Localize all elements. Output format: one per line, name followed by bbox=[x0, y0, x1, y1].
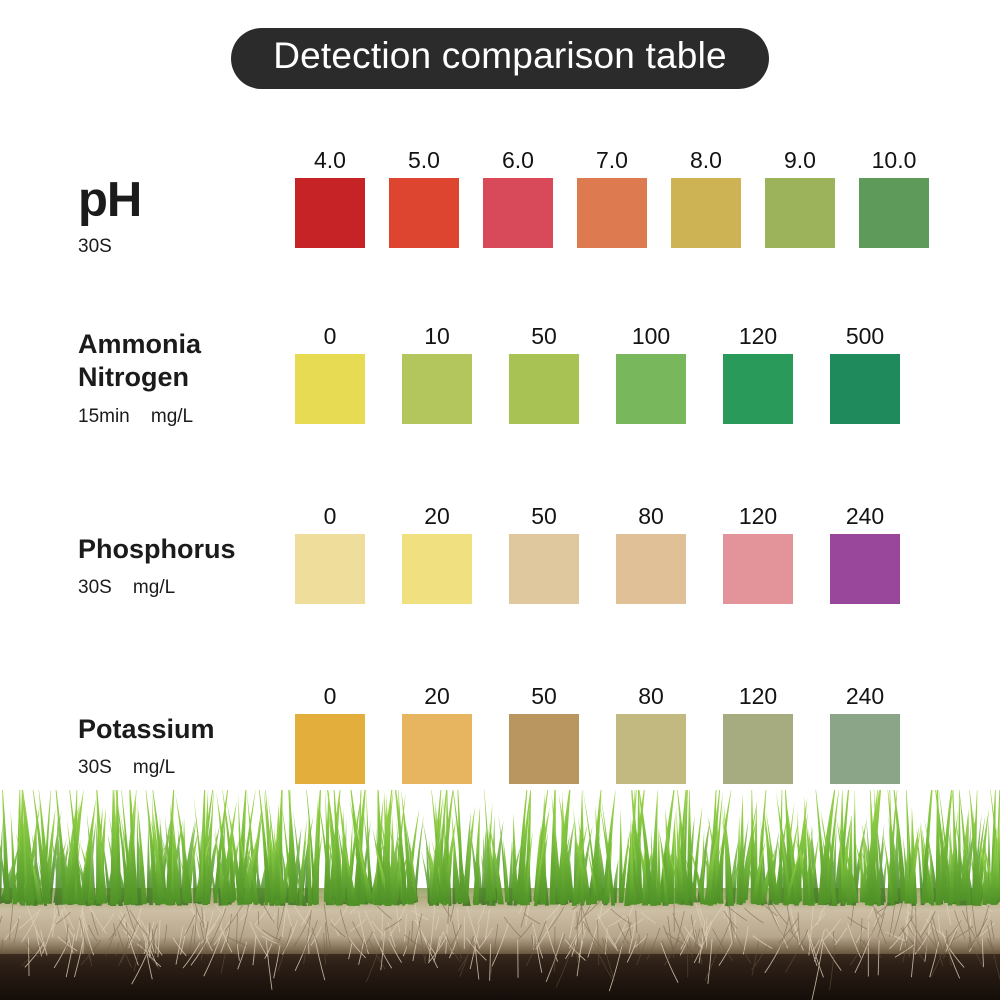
swatch-value: 8.0 bbox=[690, 146, 722, 174]
swatch-cell[interactable]: 80 bbox=[616, 502, 686, 604]
swatch-chip bbox=[765, 178, 835, 248]
swatch-cell[interactable]: 0 bbox=[295, 322, 365, 424]
swatch-cell[interactable]: 500 bbox=[830, 322, 900, 424]
row-name-ammonia-line1: Ammonia bbox=[78, 329, 201, 359]
page-title: Detection comparison table bbox=[231, 28, 769, 89]
row-name-potassium-line1: Potassium bbox=[78, 714, 215, 744]
row-label-ph: pH 30S bbox=[78, 172, 293, 258]
detection-comparison-table-page: Detection comparison table pH 30S 4.0 5.… bbox=[0, 0, 1000, 1000]
row-sub-ammonia-nitrogen: 15min mg/L bbox=[78, 406, 293, 428]
swatch-cell[interactable]: 120 bbox=[723, 682, 793, 784]
swatch-strip-ammonia-nitrogen: 0 10 50 100 120 500 bbox=[295, 322, 900, 424]
swatch-chip bbox=[616, 714, 686, 784]
swatch-value: 4.0 bbox=[314, 146, 346, 174]
swatch-chip bbox=[830, 714, 900, 784]
swatch-chip bbox=[389, 178, 459, 248]
swatch-chip bbox=[830, 534, 900, 604]
swatch-chip bbox=[723, 354, 793, 424]
swatch-cell[interactable]: 5.0 bbox=[389, 146, 459, 248]
swatch-value: 80 bbox=[638, 502, 664, 530]
row-name-potassium: Potassium bbox=[78, 714, 293, 745]
swatch-value: 50 bbox=[531, 502, 557, 530]
swatch-value: 9.0 bbox=[784, 146, 816, 174]
swatch-value: 100 bbox=[632, 322, 670, 350]
row-label-phosphorus: Phosphorus 30S mg/L bbox=[78, 534, 293, 599]
swatch-cell[interactable]: 100 bbox=[616, 322, 686, 424]
swatch-cell[interactable]: 0 bbox=[295, 682, 365, 784]
swatch-cell[interactable]: 50 bbox=[509, 502, 579, 604]
swatch-value: 0 bbox=[324, 502, 337, 530]
swatch-chip bbox=[402, 714, 472, 784]
row-name-ammonia-line2: Nitrogen bbox=[78, 361, 293, 394]
swatch-value: 50 bbox=[531, 322, 557, 350]
swatch-chip bbox=[830, 354, 900, 424]
swatch-cell[interactable]: 120 bbox=[723, 502, 793, 604]
swatch-chip bbox=[616, 534, 686, 604]
swatch-value: 7.0 bbox=[596, 146, 628, 174]
swatch-value: 120 bbox=[739, 682, 777, 710]
grass-soil-illustration bbox=[0, 790, 1000, 1000]
swatch-value: 50 bbox=[531, 682, 557, 710]
swatch-value: 10 bbox=[424, 322, 450, 350]
swatch-cell[interactable]: 9.0 bbox=[765, 146, 835, 248]
swatch-cell[interactable]: 6.0 bbox=[483, 146, 553, 248]
swatch-value: 0 bbox=[324, 322, 337, 350]
grass-soil-svg bbox=[0, 790, 1000, 1000]
row-name-ph: pH bbox=[78, 172, 293, 228]
swatch-value: 5.0 bbox=[408, 146, 440, 174]
swatch-cell[interactable]: 240 bbox=[830, 682, 900, 784]
swatch-cell[interactable]: 7.0 bbox=[577, 146, 647, 248]
swatch-cell[interactable]: 50 bbox=[509, 322, 579, 424]
swatch-chip bbox=[671, 178, 741, 248]
swatch-cell[interactable]: 8.0 bbox=[671, 146, 741, 248]
swatch-cell[interactable]: 10.0 bbox=[859, 146, 929, 248]
swatch-chip bbox=[509, 534, 579, 604]
swatch-cell[interactable]: 4.0 bbox=[295, 146, 365, 248]
row-sub-potassium: 30S mg/L bbox=[78, 757, 293, 779]
swatch-chip bbox=[295, 178, 365, 248]
swatch-cell[interactable]: 20 bbox=[402, 682, 472, 784]
swatch-cell[interactable]: 240 bbox=[830, 502, 900, 604]
swatch-strip-phosphorus: 0 20 50 80 120 240 bbox=[295, 502, 900, 604]
swatch-strip-potassium: 0 20 50 80 120 240 bbox=[295, 682, 900, 784]
swatch-value: 120 bbox=[739, 322, 777, 350]
row-sub-phosphorus: 30S mg/L bbox=[78, 577, 293, 599]
swatch-chip bbox=[295, 354, 365, 424]
row-label-potassium: Potassium 30S mg/L bbox=[78, 714, 293, 779]
swatch-value: 6.0 bbox=[502, 146, 534, 174]
swatch-chip bbox=[859, 178, 929, 248]
swatch-chip bbox=[402, 534, 472, 604]
swatch-value: 500 bbox=[846, 322, 884, 350]
swatch-cell[interactable]: 10 bbox=[402, 322, 472, 424]
swatch-cell[interactable]: 0 bbox=[295, 502, 365, 604]
row-name-phosphorus: Phosphorus bbox=[78, 534, 293, 565]
swatch-cell[interactable]: 50 bbox=[509, 682, 579, 784]
swatch-value: 0 bbox=[324, 682, 337, 710]
swatch-chip bbox=[509, 354, 579, 424]
swatch-value: 240 bbox=[846, 502, 884, 530]
swatch-chip bbox=[509, 714, 579, 784]
row-name-ammonia-nitrogen: Ammonia Nitrogen bbox=[78, 328, 293, 394]
page-title-container: Detection comparison table bbox=[0, 28, 1000, 89]
swatch-chip bbox=[295, 534, 365, 604]
row-label-ammonia-nitrogen: Ammonia Nitrogen 15min mg/L bbox=[78, 328, 293, 428]
swatch-chip bbox=[616, 354, 686, 424]
swatch-value: 20 bbox=[424, 502, 450, 530]
swatch-chip bbox=[723, 714, 793, 784]
row-name-phosphorus-line1: Phosphorus bbox=[78, 534, 236, 564]
swatch-chip bbox=[483, 178, 553, 248]
swatch-cell[interactable]: 120 bbox=[723, 322, 793, 424]
swatch-value: 240 bbox=[846, 682, 884, 710]
swatch-value: 120 bbox=[739, 502, 777, 530]
swatch-strip-ph: 4.0 5.0 6.0 7.0 8.0 9.0 bbox=[295, 146, 929, 248]
row-name-ph-line1: pH bbox=[78, 173, 141, 227]
swatch-chip bbox=[577, 178, 647, 248]
swatch-cell[interactable]: 80 bbox=[616, 682, 686, 784]
swatch-value: 20 bbox=[424, 682, 450, 710]
swatch-chip bbox=[723, 534, 793, 604]
swatch-value: 10.0 bbox=[872, 146, 917, 174]
swatch-chip bbox=[402, 354, 472, 424]
swatch-chip bbox=[295, 714, 365, 784]
swatch-value: 80 bbox=[638, 682, 664, 710]
swatch-cell[interactable]: 20 bbox=[402, 502, 472, 604]
row-sub-ph: 30S bbox=[78, 236, 293, 258]
